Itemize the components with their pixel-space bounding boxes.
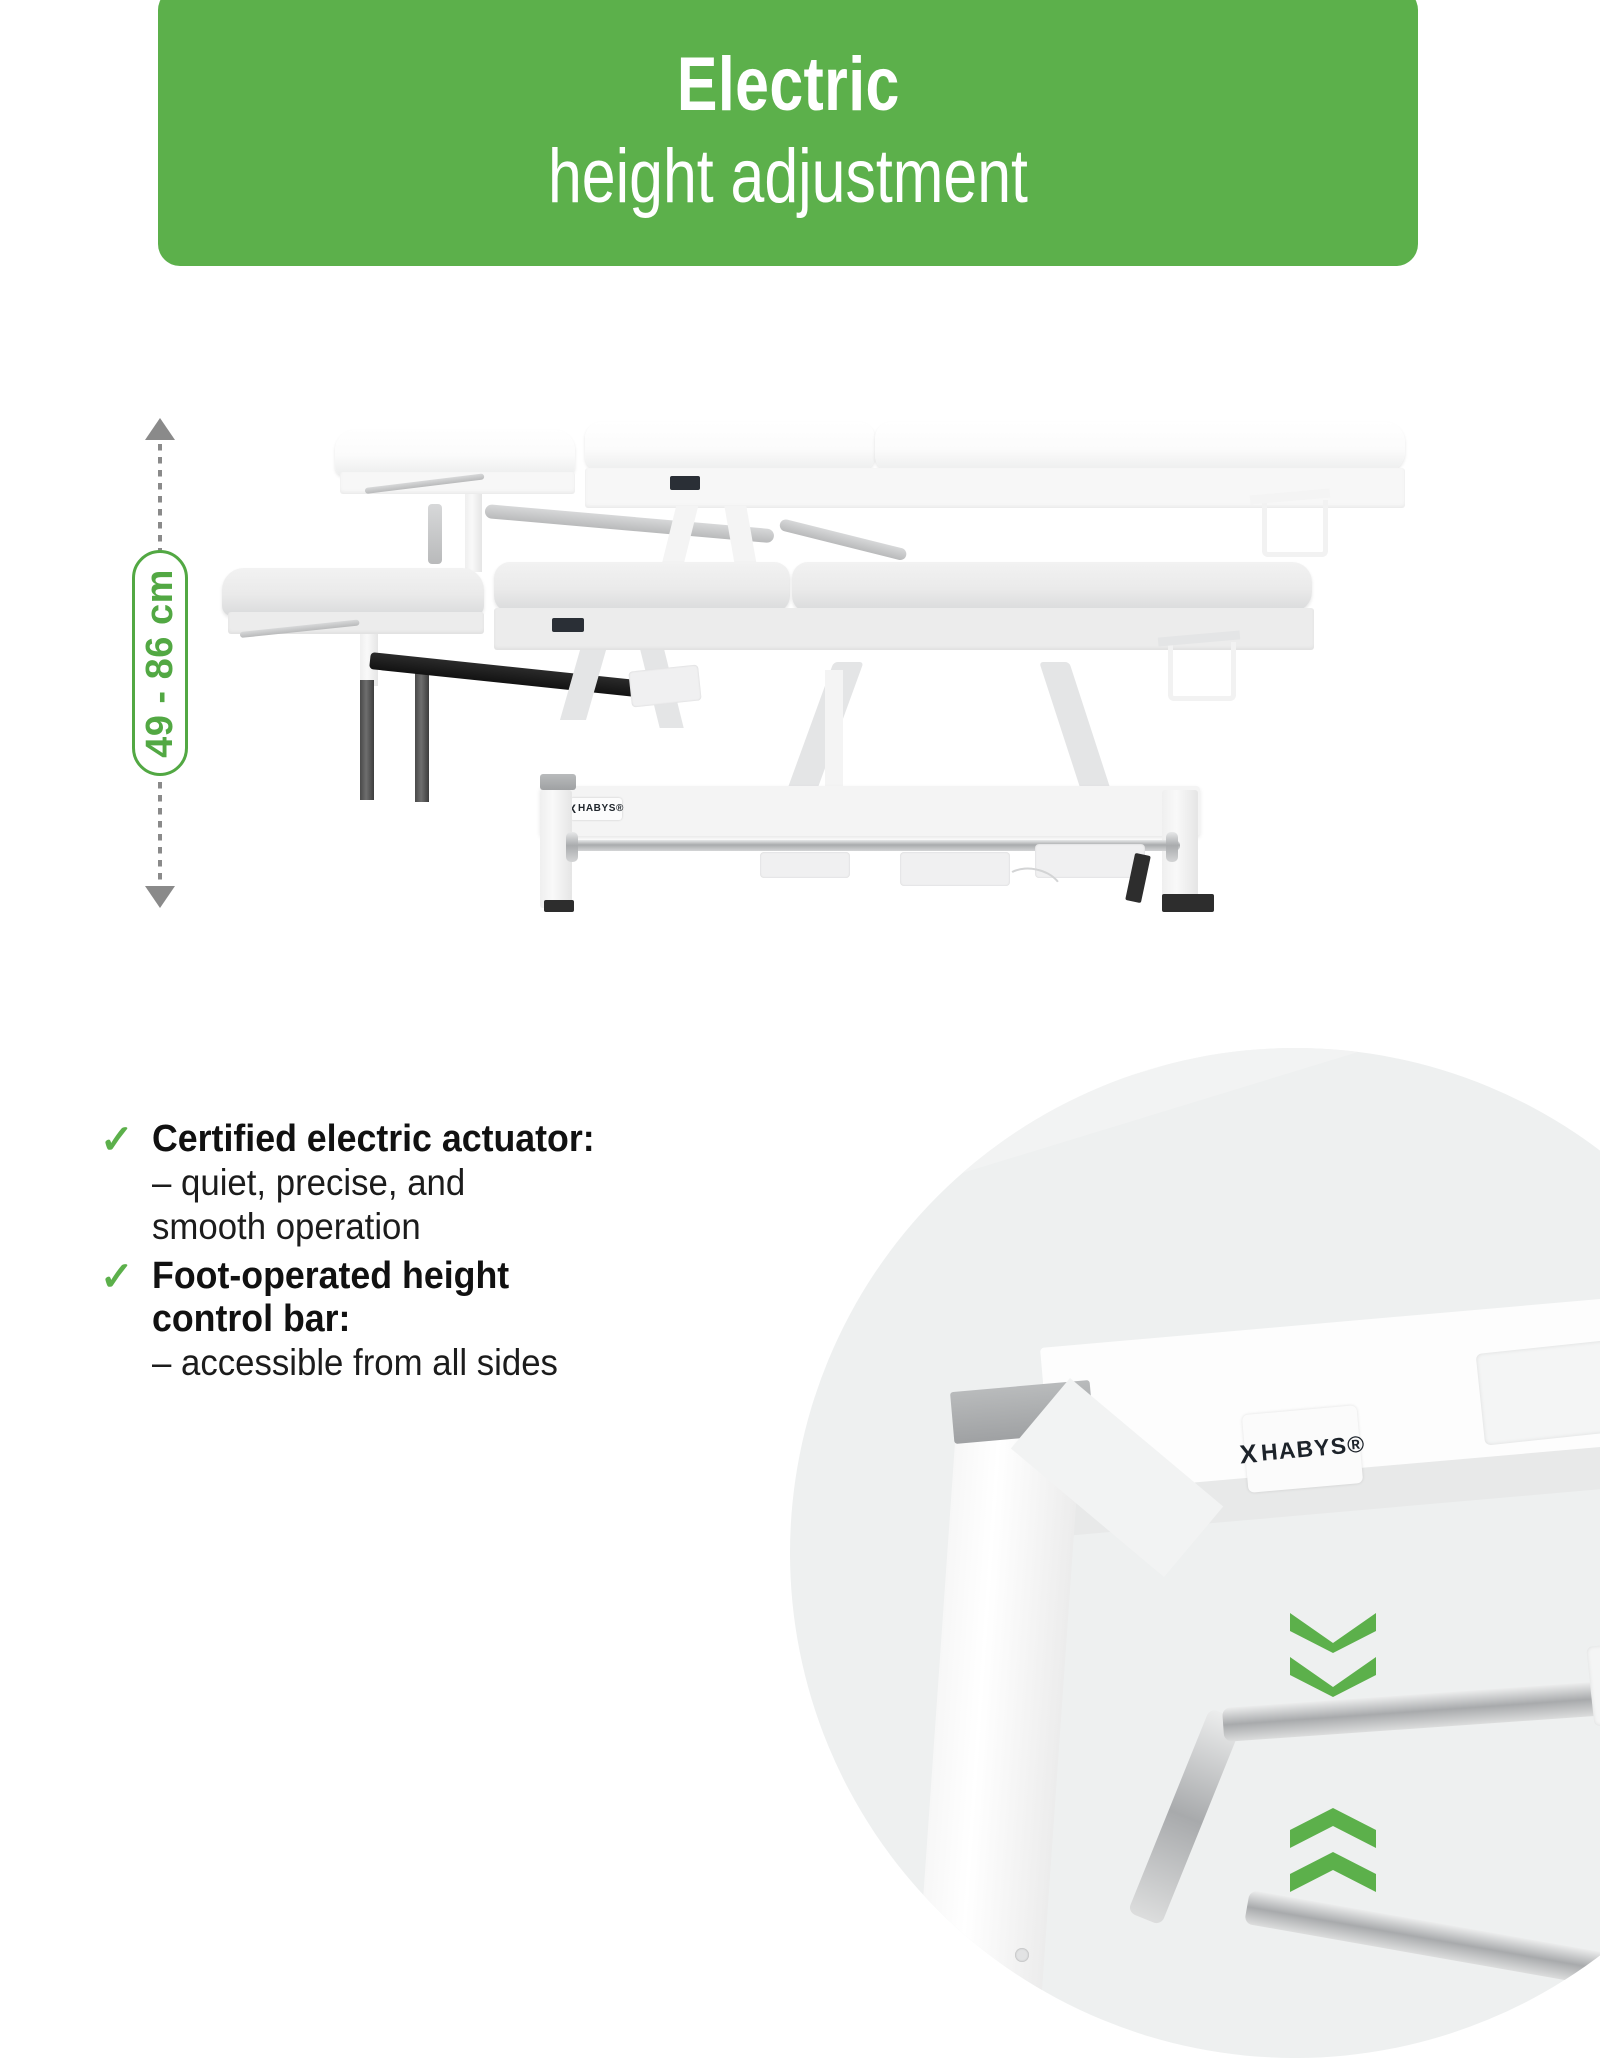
inset-leg-screw [1015, 1948, 1029, 1962]
base-cap-left [540, 774, 576, 790]
chevron-up-icon [1290, 1808, 1376, 1848]
center-post [825, 670, 843, 796]
check-icon: ✓ [100, 1118, 152, 1162]
pad-middle-raised [585, 422, 875, 472]
support-leg-left [360, 680, 374, 800]
base-foot-left [544, 900, 574, 912]
check-icon: ✓ [100, 1255, 152, 1299]
pad-head-raised [335, 430, 575, 476]
base-beam [540, 786, 1200, 836]
pad-rear-raised [875, 422, 1405, 472]
product-photo: X HABYS® [200, 400, 1490, 940]
feature-subline: smooth operation [152, 1205, 686, 1249]
inset-logo-plate: X HABYS® [1242, 1405, 1363, 1493]
habys-wordmark: HABYS® [1260, 1432, 1366, 1464]
feature-subline: – accessible from all sides [152, 1341, 686, 1385]
arrow-down-icon [145, 886, 175, 908]
banner-title-secondary: height adjustment [548, 137, 1028, 217]
control-box [900, 852, 1010, 886]
base-logo-plate: X HABYS® [570, 798, 622, 820]
inset-table-leg [916, 1400, 1083, 2007]
banner-title-primary: Electric [677, 47, 900, 123]
lift-motor-lowered [628, 664, 701, 707]
base-foot-right [1162, 894, 1214, 912]
actuator-housing [760, 852, 850, 878]
brand-tag-lowered [552, 618, 584, 632]
height-range-label: 49 - 86 cm [139, 569, 182, 758]
brand-tag-raised [670, 476, 700, 490]
height-range-indicator: 49 - 86 cm [138, 418, 182, 908]
hook-bracket-raised [1262, 500, 1328, 557]
inset-photo-circle: X HABYS® [790, 1048, 1600, 2058]
head-strut-raised [428, 504, 442, 564]
feature-item-actuator: ✓ Certified electric actuator: – quiet, … [100, 1118, 720, 1249]
habys-wordmark: HABYS® [578, 804, 624, 814]
chevron-down-icon [1290, 1613, 1376, 1653]
feature-item-foot-control: ✓ Foot-operated height control bar: – ac… [100, 1255, 720, 1385]
foot-bar-end-left [566, 832, 578, 862]
scissor-arm-right [1039, 662, 1111, 790]
head-column-raised [465, 494, 482, 572]
chevron-down-icon [1290, 1657, 1376, 1697]
habys-x-icon: X [1239, 1440, 1259, 1467]
feature-subline: – quiet, precise, and [152, 1161, 686, 1205]
support-leg-right [415, 672, 429, 802]
actuator-raised [779, 518, 908, 561]
inset-foot-bar-vertical [1128, 1708, 1244, 1925]
inset-foot-bar-bottom [1244, 1890, 1600, 2031]
header-banner: Electric height adjustment [158, 0, 1418, 266]
hook-bracket-lowered [1168, 642, 1236, 701]
feature-title: Foot-operated height [152, 1255, 686, 1298]
arrow-up-icon [145, 418, 175, 440]
power-supply-box [1035, 844, 1145, 878]
foot-bar-end-right [1166, 832, 1178, 862]
feature-title: Certified electric actuator: [152, 1118, 686, 1161]
pad-head-lowered [222, 568, 484, 616]
pad-rear-lowered [792, 562, 1312, 612]
pad-middle-lowered [494, 562, 790, 612]
feature-title: control bar: [152, 1298, 686, 1341]
feature-list: ✓ Certified electric actuator: – quiet, … [100, 1118, 720, 1391]
inset-foot-bar-top [1222, 1665, 1600, 1742]
chevron-up-icon [1290, 1852, 1376, 1892]
infographic-page: Electric height adjustment 49 - 86 cm [0, 0, 1600, 1600]
height-range-badge: 49 - 86 cm [132, 550, 188, 776]
